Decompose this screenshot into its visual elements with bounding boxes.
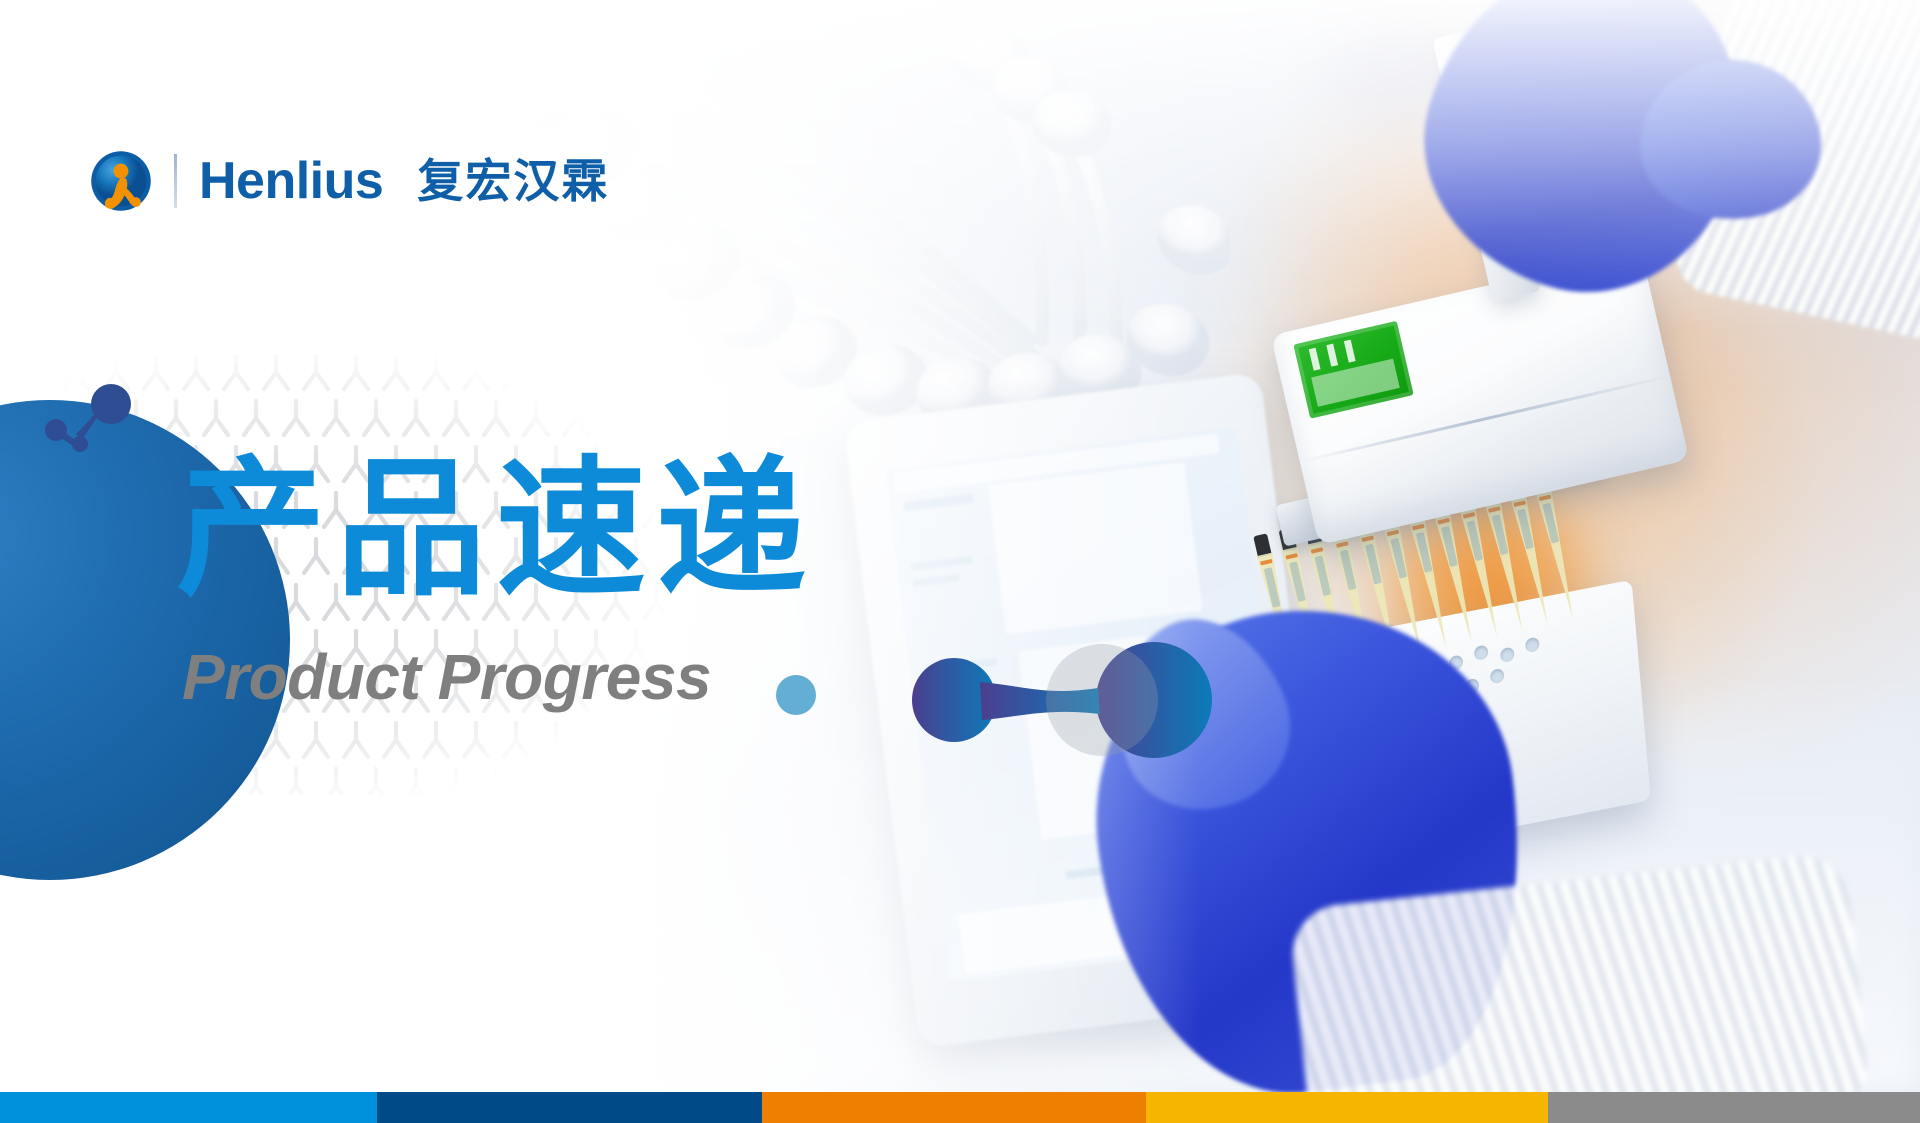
page-title-chinese: 产品速递: [176, 455, 816, 605]
segment-light-blue: [0, 1092, 377, 1123]
decorative-dot-small: [776, 675, 816, 715]
henlius-emblem-icon: [90, 150, 152, 212]
segment-navy: [377, 1092, 762, 1123]
footer-color-bar: [0, 1092, 1920, 1123]
logo-english-name: Henlius: [199, 155, 383, 207]
presentation-slide: Henlius 复宏汉霖 产品速递 Product Progress: [0, 0, 1920, 1123]
segment-orange: [762, 1092, 1146, 1123]
pipette-green-label: [1293, 321, 1413, 419]
logo-chinese-name: 复宏汉霖: [417, 158, 609, 204]
segment-yellow: [1146, 1092, 1548, 1123]
decorative-gray-circle: [1046, 644, 1158, 756]
segment-gray: [1548, 1092, 1920, 1123]
molecule-icon-small: [36, 382, 146, 462]
logo-divider: [174, 154, 177, 208]
henlius-logo[interactable]: Henlius 复宏汉霖: [90, 150, 609, 212]
page-subtitle-english: Product Progress: [182, 645, 711, 709]
